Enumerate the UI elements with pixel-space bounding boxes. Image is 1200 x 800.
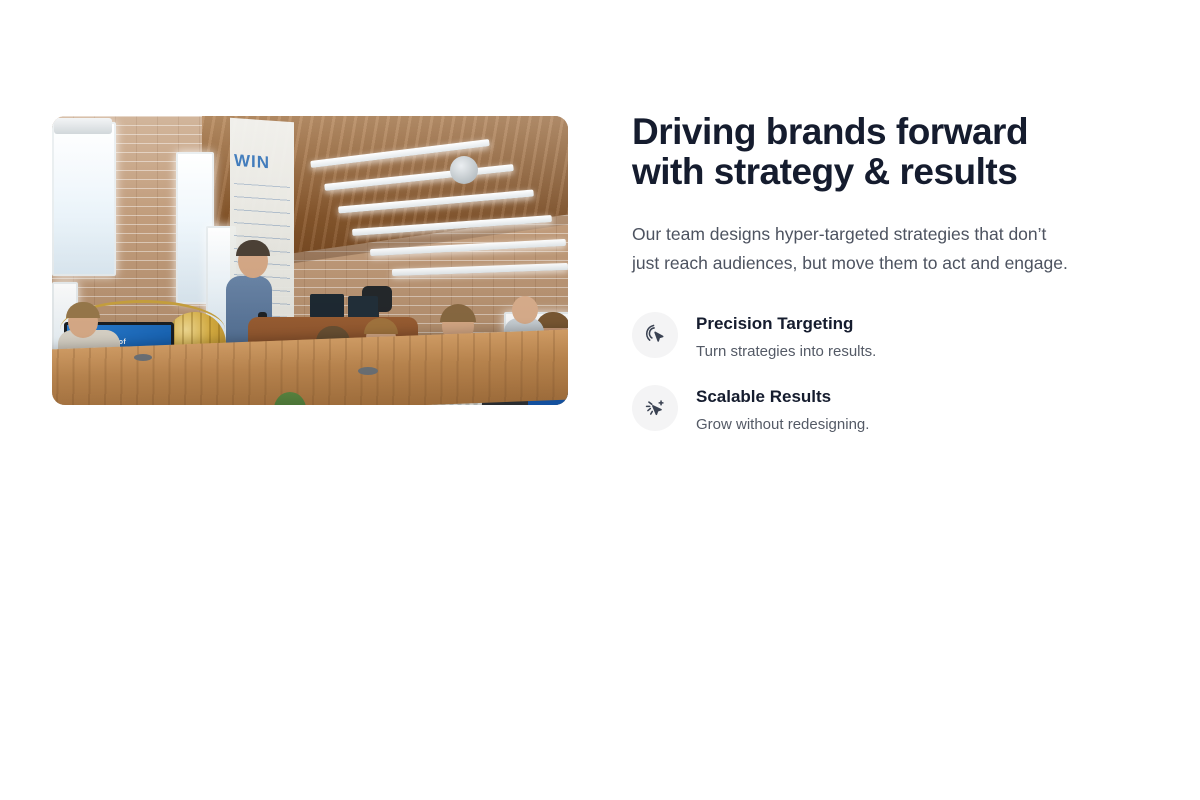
feature-description: Grow without redesigning. bbox=[696, 408, 869, 435]
photo-light-haze bbox=[52, 116, 568, 405]
cursor-click-icon bbox=[632, 312, 678, 358]
feature-item-precision-targeting: Precision Targeting Turn strategies into… bbox=[632, 311, 1152, 384]
feature-item-scalable-results: Scalable Results Grow without redesignin… bbox=[632, 384, 1152, 435]
hero-photo: WIN Proof ALL HANDS 6/28/2019 bbox=[52, 116, 568, 405]
hero-text-column: Driving brands forward with strategy & r… bbox=[632, 112, 1152, 435]
feature-body: Precision Targeting Turn strategies into… bbox=[696, 311, 876, 362]
feature-description: Turn strategies into results. bbox=[696, 335, 876, 362]
page-title: Driving brands forward with strategy & r… bbox=[632, 112, 1152, 192]
feature-list: Precision Targeting Turn strategies into… bbox=[632, 278, 1152, 435]
hero-subtitle: Our team designs hyper-targeted strategi… bbox=[632, 192, 1148, 278]
feature-title: Precision Targeting bbox=[696, 313, 876, 335]
hero-section: WIN Proof ALL HANDS 6/28/2019 bbox=[0, 0, 1200, 800]
hero-media-column: WIN Proof ALL HANDS 6/28/2019 bbox=[52, 116, 568, 405]
cursor-expand-icon bbox=[632, 385, 678, 431]
feature-body: Scalable Results Grow without redesignin… bbox=[696, 384, 869, 435]
feature-title: Scalable Results bbox=[696, 386, 869, 408]
